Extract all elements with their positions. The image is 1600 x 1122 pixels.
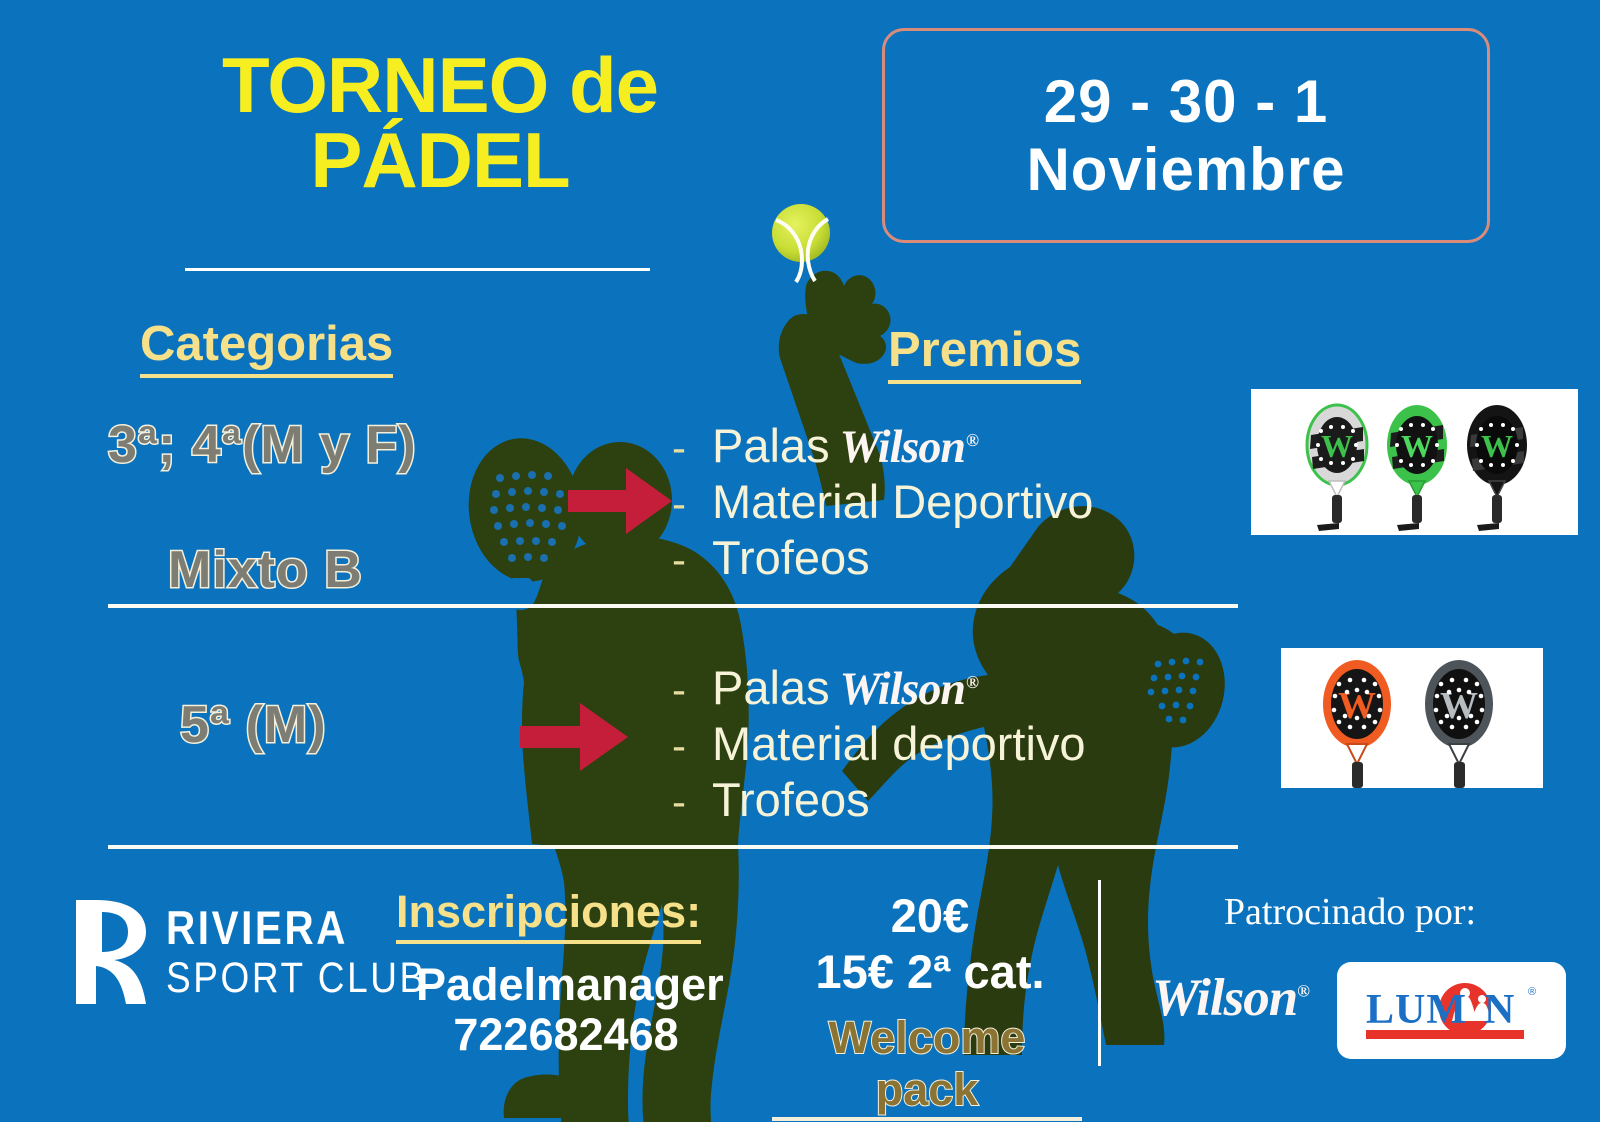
wilson-logo: Wilson®	[840, 662, 978, 716]
prize-item: - Trofeos	[672, 772, 1086, 827]
welcome-pack-label: Welcome pack	[772, 1012, 1082, 1121]
arrow-icon	[520, 468, 672, 771]
registration-phone: 722682468	[416, 1010, 716, 1060]
title-line-2: PÁDEL	[120, 123, 760, 198]
list-dash: -	[672, 721, 712, 771]
prize-label: Material Deportivo	[712, 474, 1093, 529]
riviera-r-mark	[72, 898, 150, 1006]
prize-item: - Trofeos	[672, 530, 1093, 585]
wilson-logo: Wilson®	[840, 420, 978, 474]
category-item-1: 3ª; 4ª(M y F)	[108, 415, 417, 475]
prize-item: - Material Deportivo	[672, 474, 1093, 529]
svg-text:N: N	[1484, 987, 1514, 1033]
title-divider	[185, 268, 650, 271]
date-days: 29 - 30 - 1	[1026, 68, 1345, 135]
sponsors-heading: Patrocinado por:	[1120, 890, 1580, 934]
prize-list-group-1: - Palas Wilson® - Material Deportivo - T…	[672, 418, 1093, 585]
prize-label: Palas	[712, 418, 830, 473]
sponsor-divider	[1098, 880, 1101, 1066]
categorias-heading: Categorias	[140, 316, 393, 378]
prize-label: Trofeos	[712, 530, 870, 585]
date-box: 29 - 30 - 1 Noviembre	[882, 28, 1490, 243]
premios-heading: Premios	[888, 322, 1081, 384]
svg-text:LUM: LUM	[1366, 987, 1467, 1033]
prize-label: Material deportivo	[712, 716, 1086, 771]
rackets-image-green: W W	[1251, 389, 1578, 535]
sponsor-lumon-logo: LUM N ®	[1337, 962, 1566, 1059]
club-name-line-1: RIVIERA	[166, 904, 427, 951]
inscripciones-heading: Inscripciones:	[396, 886, 701, 944]
club-name-line-2: SPORT CLUB	[166, 957, 427, 1000]
price-block: 20€ 15€ 2ª cat.	[780, 888, 1080, 1001]
list-dash: -	[672, 479, 712, 529]
category-item-2: Mixto B	[168, 540, 363, 600]
prize-label: Palas	[712, 660, 830, 715]
list-dash: -	[672, 423, 712, 473]
tennis-ball-icon	[772, 204, 830, 282]
svg-text:®: ®	[1528, 986, 1536, 998]
category-item-3: 5ª (M)	[180, 695, 327, 755]
inscripciones-details: Padelmanager 722682468	[416, 960, 716, 1061]
prize-item: - Palas Wilson®	[672, 660, 1086, 716]
sponsor-wilson-logo: Wilson®	[1152, 968, 1309, 1028]
prize-item: - Palas Wilson®	[672, 418, 1093, 474]
list-dash: -	[672, 777, 712, 827]
prize-list-group-2: - Palas Wilson® - Material deportivo - T…	[672, 660, 1086, 827]
price-full: 20€	[780, 888, 1080, 944]
list-dash: -	[672, 535, 712, 585]
prize-label: Trofeos	[712, 772, 870, 827]
tournament-poster: TORNEO de PÁDEL 29 - 30 - 1 Noviembre Ca…	[0, 0, 1600, 1122]
list-dash: -	[672, 665, 712, 715]
section-divider-1	[108, 604, 1238, 608]
prize-item: - Material deportivo	[672, 716, 1086, 771]
section-divider-2	[108, 845, 1238, 849]
svg-text:W: W	[1481, 428, 1513, 464]
svg-text:W: W	[1321, 428, 1353, 464]
svg-text:W: W	[1401, 428, 1433, 464]
page-title: TORNEO de PÁDEL	[120, 48, 760, 198]
rackets-image-orange-grey: W W	[1281, 648, 1543, 788]
registration-platform: Padelmanager	[416, 960, 716, 1010]
price-second-category: 15€ 2ª cat.	[780, 944, 1080, 1000]
date-month: Noviembre	[1026, 136, 1345, 203]
welcome-pack-block: Welcome pack	[772, 1012, 1082, 1121]
